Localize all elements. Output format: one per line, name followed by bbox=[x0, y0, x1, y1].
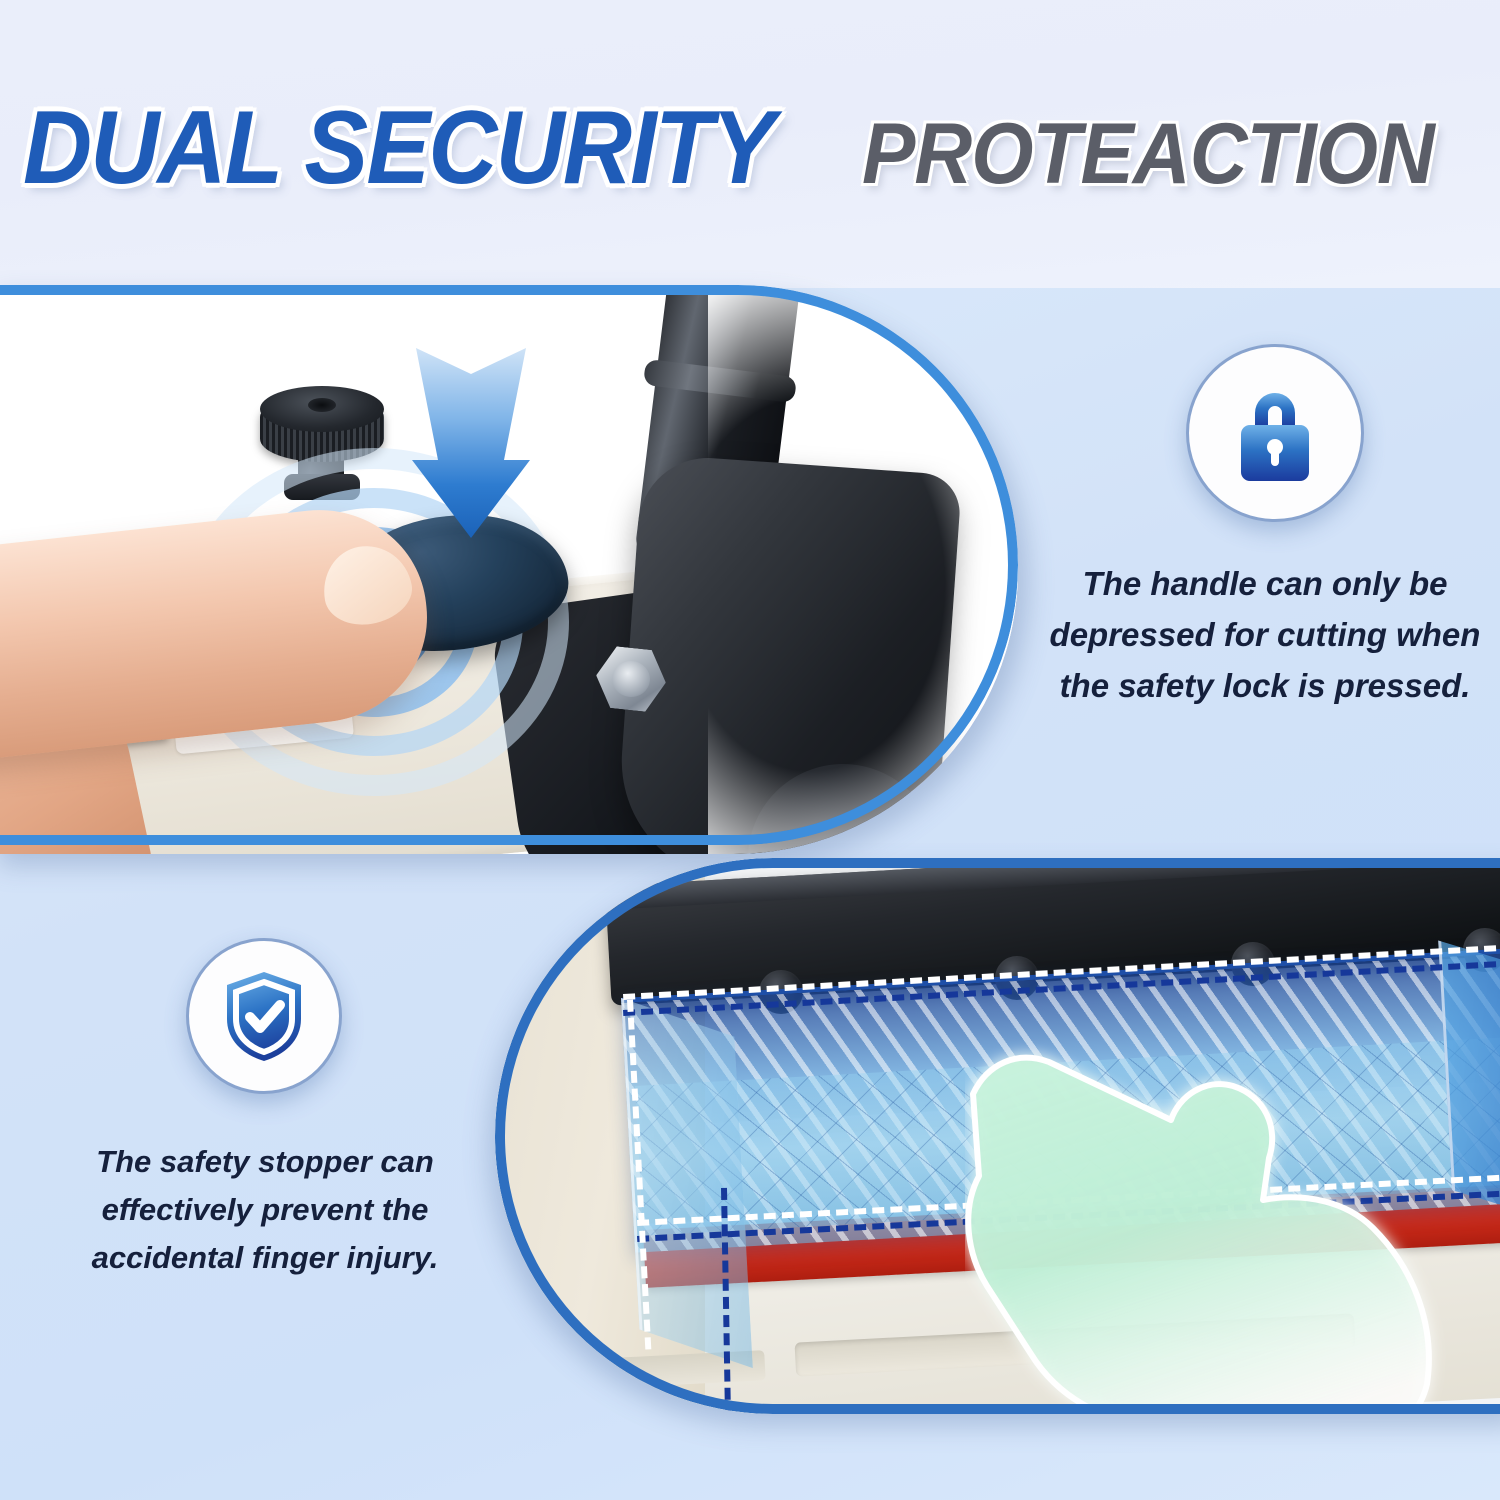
safety-lock-caption: The handle can only be depressed for cut… bbox=[1034, 558, 1496, 711]
lock-icon bbox=[1229, 383, 1321, 483]
headline: DUAL SECURITY PROTEACTION bbox=[0, 96, 1500, 206]
safety-stopper-caption: The safety stopper can effectively preve… bbox=[40, 1138, 490, 1282]
headline-secondary: PROTEACTION bbox=[862, 111, 1434, 197]
green-ghost-hand-icon bbox=[965, 1024, 1500, 1414]
top-photo-inner bbox=[0, 294, 1018, 854]
lock-badge bbox=[1186, 344, 1364, 522]
knob-center-dot bbox=[308, 398, 336, 412]
headline-primary: DUAL SECURITY bbox=[23, 96, 773, 200]
infographic-canvas: DUAL SECURITY PROTEACTION bbox=[0, 0, 1500, 1500]
safety-lock-press-photo bbox=[0, 285, 1018, 854]
shield-badge bbox=[186, 938, 342, 1094]
press-down-arrow-icon bbox=[412, 348, 530, 538]
bottom-photo-inner bbox=[495, 858, 1500, 1414]
safety-stopper-photo bbox=[495, 858, 1500, 1414]
shield-check-icon bbox=[221, 969, 307, 1063]
